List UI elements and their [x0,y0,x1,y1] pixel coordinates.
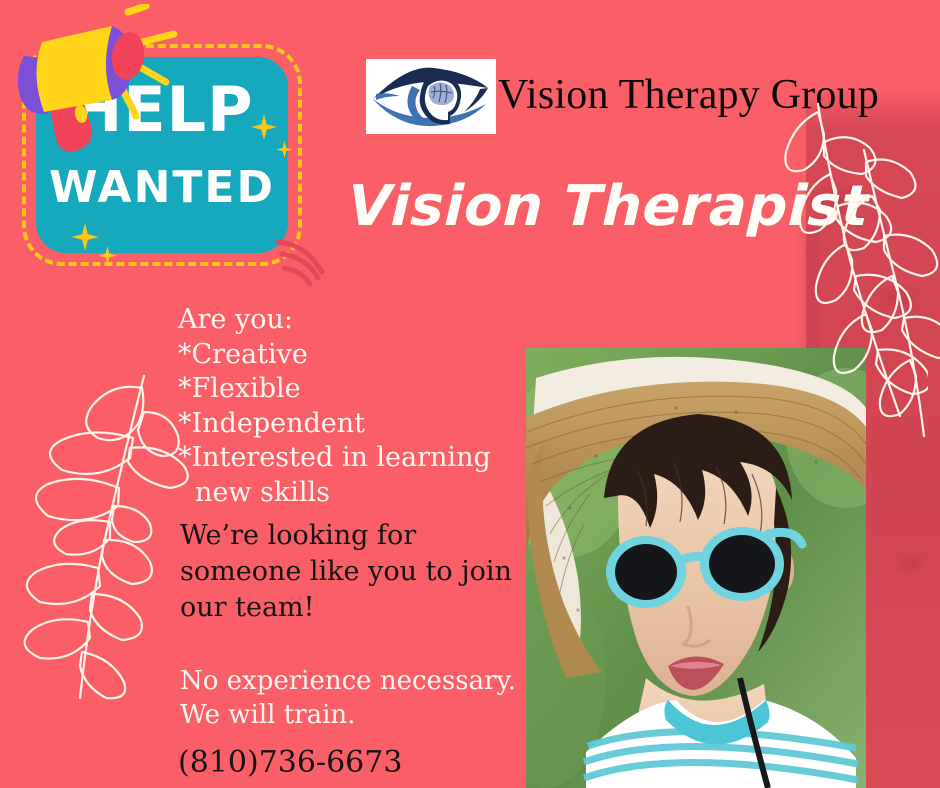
training-block: No experience necessary. We will train. [180,664,516,732]
badge-wanted-text: WANTED [36,165,288,211]
pitch-block: We’re looking for someone like you to jo… [180,518,512,626]
qualities-block: Are you: *Creative *Flexible *Independen… [178,303,491,510]
pitch-line: We’re looking for [180,518,512,554]
training-line: We will train. [180,698,516,732]
pitch-line: someone like you to join [180,554,512,590]
quality-item: *Interested in learning [178,441,491,476]
page-title: Vision Therapist [347,172,870,242]
brand-name: Vision Therapy Group [498,70,879,120]
swoosh-arcs-decoration [276,238,346,288]
eye-brain-logo-icon [368,62,494,132]
quality-item: *Creative [178,338,491,373]
quality-item: *Flexible [178,372,491,407]
leaf-branch-decoration [18,372,198,702]
training-line: No experience necessary. [180,664,516,698]
pitch-line: our team! [180,590,512,626]
sparkle-icon [71,223,99,251]
vision-therapy-group-logo [366,59,496,134]
qualities-heading: Are you: [178,303,491,338]
quality-item-continuation: new skills [178,476,491,511]
quality-item: *Independent [178,407,491,442]
help-wanted-poster: HELP WANTED [0,0,940,788]
contact-phone[interactable]: (810)736-6673 [178,744,402,782]
megaphone-icon [8,4,178,164]
child-photo [526,348,866,788]
